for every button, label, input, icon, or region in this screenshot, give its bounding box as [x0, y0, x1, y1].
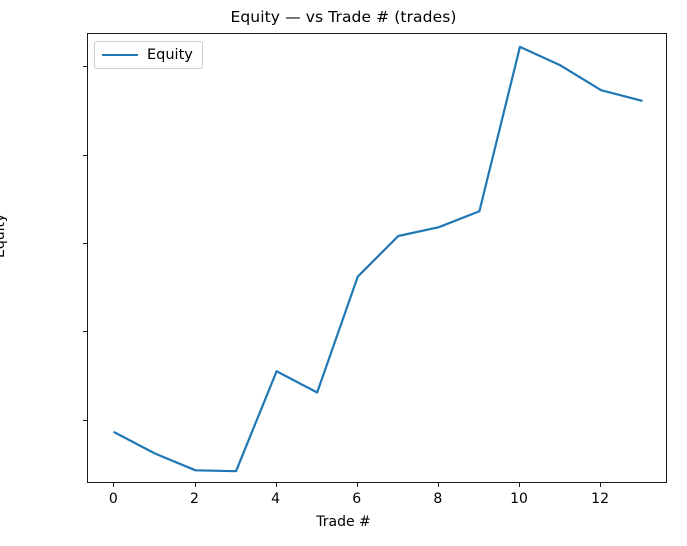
- equity-line-plot: [88, 34, 668, 484]
- chart-legend: Equity: [94, 41, 203, 69]
- legend-line-swatch-equity: [102, 54, 138, 56]
- equity-series-line: [114, 47, 641, 471]
- x-tick-label: 8: [408, 491, 468, 507]
- chart-title: Equity — vs Trade # (trades): [0, 8, 687, 26]
- x-tick-label: 6: [327, 491, 387, 507]
- x-tick-label: 12: [570, 491, 630, 507]
- x-tick-label: 2: [165, 491, 225, 507]
- x-tick-label: 4: [246, 491, 306, 507]
- x-tick-label: 0: [83, 491, 143, 507]
- x-tick-label: 10: [489, 491, 549, 507]
- plot-area: [87, 33, 667, 483]
- y-axis-label: Equity: [0, 214, 8, 258]
- x-axis-label: Trade #: [0, 514, 687, 530]
- chart-figure: Equity — vs Trade # (trades) Equity Trad…: [0, 0, 687, 546]
- legend-label-equity: Equity: [147, 47, 193, 63]
